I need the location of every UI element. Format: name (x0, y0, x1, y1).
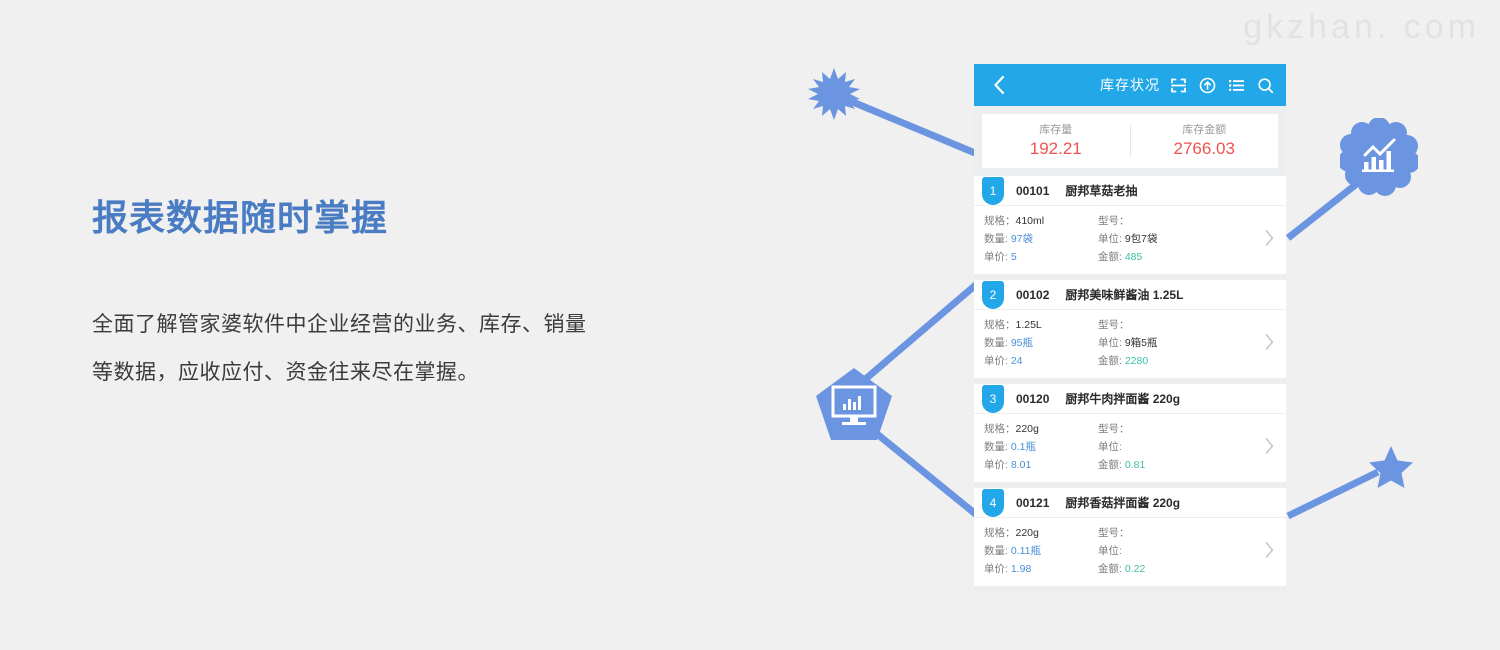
item-col-left: 规格：220g 数量: 0.1瓶 单价: 8.01 (974, 420, 1094, 474)
item-price-row: 单价: 5 (984, 248, 1094, 266)
price-label: 单价: (984, 251, 1008, 263)
unit-value: 9包7袋 (1125, 233, 1158, 245)
search-icon[interactable] (1257, 77, 1274, 94)
phone-mockup: 库存状况 (974, 64, 1286, 592)
item-name: 厨邦草菇老抽 (1065, 182, 1137, 199)
chevron-left-icon (993, 75, 1005, 95)
model-label: 型号： (1098, 527, 1130, 539)
item-spec-row: 规格：220g (984, 524, 1094, 542)
spec-label: 规格： (984, 527, 1016, 539)
item-unit-row: 单位: 9箱5瓶 (1098, 334, 1224, 352)
item-amount-row: 金额: 0.22 (1098, 560, 1224, 578)
unit-label: 单位: (1098, 545, 1122, 557)
qty-value: 0.1瓶 (1011, 441, 1036, 453)
summary-label: 库存量 (982, 122, 1130, 138)
item-col-right: 型号： 单位: 9箱5瓶 金额: 2280 (1094, 316, 1224, 370)
item-model-row: 型号： (1098, 316, 1224, 334)
list-item[interactable]: 1 00101 厨邦草菇老抽 规格：410ml 数量: 97袋 单价: 5 型号… (974, 176, 1286, 274)
item-col-left: 规格：410ml 数量: 97袋 单价: 5 (974, 212, 1094, 266)
amount-value: 485 (1125, 251, 1143, 263)
bar-line-chart-icon (1340, 118, 1418, 196)
spec-value: 220g (1016, 527, 1039, 539)
amount-label: 金额: (1098, 251, 1122, 263)
amount-label: 金额: (1098, 459, 1122, 471)
summary-card: 库存量 192.21 库存金额 2766.03 (982, 114, 1278, 168)
item-index-badge: 1 (982, 177, 1004, 205)
star-icon (1368, 444, 1414, 490)
list-item-body: 规格：220g 数量: 0.1瓶 单价: 8.01 型号： 单位: 金额: 0.… (974, 414, 1286, 482)
spec-value: 1.25L (1016, 319, 1042, 331)
star-badge (1368, 444, 1414, 490)
back-button[interactable] (986, 75, 1012, 95)
item-col-right: 型号： 单位: 金额: 0.81 (1094, 420, 1224, 474)
summary-section: 库存量 192.21 库存金额 2766.03 (974, 106, 1286, 168)
item-amount-row: 金额: 0.81 (1098, 456, 1224, 474)
item-qty-row: 数量: 0.1瓶 (984, 438, 1094, 456)
spec-label: 规格： (984, 319, 1016, 331)
spec-value: 410ml (1016, 215, 1045, 227)
item-qty-row: 数量: 0.11瓶 (984, 542, 1094, 560)
item-code: 00102 (1016, 288, 1049, 302)
item-amount-row: 金额: 485 (1098, 248, 1224, 266)
item-code: 00101 (1016, 184, 1049, 198)
list-item-header: 1 00101 厨邦草菇老抽 (974, 176, 1286, 206)
amount-value: 0.81 (1125, 459, 1145, 471)
scallop-badge (1340, 118, 1418, 196)
list-item-body: 规格：410ml 数量: 97袋 单价: 5 型号： 单位: 9包7袋 金额: … (974, 206, 1286, 274)
amount-label: 金额: (1098, 563, 1122, 575)
item-name: 厨邦牛肉拌面酱 220g (1065, 390, 1180, 407)
list-item-header: 3 00120 厨邦牛肉拌面酱 220g (974, 384, 1286, 414)
list-item-body: 规格：220g 数量: 0.11瓶 单价: 1.98 型号： 单位: 金额: 0… (974, 518, 1286, 586)
item-code: 00121 (1016, 496, 1049, 510)
summary-value: 192.21 (982, 138, 1130, 160)
monitor-chart-icon (814, 366, 894, 442)
chevron-right-icon[interactable] (1265, 334, 1274, 353)
qty-value: 95瓶 (1011, 337, 1033, 349)
item-amount-row: 金额: 2280 (1098, 352, 1224, 370)
item-model-row: 型号： (1098, 212, 1224, 230)
app-header: 库存状况 (974, 64, 1286, 106)
item-name: 厨邦美味鲜酱油 1.25L (1065, 286, 1183, 303)
list-item-header: 4 00121 厨邦香菇拌面酱 220g (974, 488, 1286, 518)
item-col-right: 型号： 单位: 金额: 0.22 (1094, 524, 1224, 578)
item-code: 00120 (1016, 392, 1049, 406)
chevron-right-icon[interactable] (1265, 230, 1274, 249)
summary-label: 库存金额 (1131, 122, 1279, 138)
summary-cell-amount: 库存金额 2766.03 (1131, 122, 1279, 160)
summary-cell-qty: 库存量 192.21 (982, 122, 1130, 160)
page-title: 报表数据随时掌握 (92, 196, 612, 239)
item-price-row: 单价: 1.98 (984, 560, 1094, 578)
item-col-right: 型号： 单位: 9包7袋 金额: 485 (1094, 212, 1224, 266)
chevron-right-icon[interactable] (1265, 438, 1274, 457)
item-spec-row: 规格：1.25L (984, 316, 1094, 334)
item-index-badge: 2 (982, 281, 1004, 309)
item-price-row: 单价: 24 (984, 352, 1094, 370)
qty-value: 97袋 (1011, 233, 1033, 245)
site-watermark: gkzhan. com (1243, 8, 1480, 47)
model-label: 型号： (1098, 423, 1130, 435)
header-actions (1170, 77, 1274, 94)
connector-line-right-bottom (1288, 472, 1378, 516)
qty-label: 数量: (984, 233, 1008, 245)
pentagon-badge (814, 366, 894, 442)
qty-label: 数量: (984, 441, 1008, 453)
price-label: 单价: (984, 563, 1008, 575)
item-unit-row: 单位: 9包7袋 (1098, 230, 1224, 248)
item-unit-row: 单位: (1098, 542, 1224, 560)
unit-label: 单位: (1098, 233, 1122, 245)
list-item-body: 规格：1.25L 数量: 95瓶 单价: 24 型号： 单位: 9箱5瓶 金额:… (974, 310, 1286, 378)
price-value: 8.01 (1011, 459, 1031, 471)
price-value: 1.98 (1011, 563, 1031, 575)
price-label: 单价: (984, 459, 1008, 471)
upload-circle-icon[interactable] (1199, 77, 1216, 94)
page-root: gkzhan. com 报表数据随时掌握 全面了解管家婆软件中企业经营的业务、库… (0, 0, 1500, 650)
inventory-list: 1 00101 厨邦草菇老抽 规格：410ml 数量: 97袋 单价: 5 型号… (974, 176, 1286, 586)
burst-badge (806, 66, 862, 122)
amount-label: 金额: (1098, 355, 1122, 367)
item-model-row: 型号： (1098, 524, 1224, 542)
unit-value: 9箱5瓶 (1125, 337, 1158, 349)
amount-value: 2280 (1125, 355, 1148, 367)
spec-label: 规格： (984, 215, 1016, 227)
item-name: 厨邦香菇拌面酱 220g (1065, 494, 1180, 511)
amount-value: 0.22 (1125, 563, 1145, 575)
price-value: 5 (1011, 251, 1017, 263)
list-item-header: 2 00102 厨邦美味鲜酱油 1.25L (974, 280, 1286, 310)
price-label: 单价: (984, 355, 1008, 367)
item-qty-row: 数量: 97袋 (984, 230, 1094, 248)
spec-label: 规格： (984, 423, 1016, 435)
list-item[interactable]: 2 00102 厨邦美味鲜酱油 1.25L 规格：1.25L 数量: 95瓶 单… (974, 274, 1286, 378)
list-item[interactable]: 3 00120 厨邦牛肉拌面酱 220g 规格：220g 数量: 0.1瓶 单价… (974, 378, 1286, 482)
list-item[interactable]: 4 00121 厨邦香菇拌面酱 220g 规格：220g 数量: 0.11瓶 单… (974, 482, 1286, 586)
page-description: 全面了解管家婆软件中企业经营的业务、库存、销量等数据，应收应付、资金往来尽在掌握… (92, 301, 592, 397)
model-label: 型号： (1098, 319, 1130, 331)
list-icon[interactable] (1228, 77, 1245, 94)
item-index-badge: 3 (982, 385, 1004, 413)
item-qty-row: 数量: 95瓶 (984, 334, 1094, 352)
copy-block: 报表数据随时掌握 全面了解管家婆软件中企业经营的业务、库存、销量等数据，应收应付… (92, 196, 612, 397)
item-model-row: 型号： (1098, 420, 1224, 438)
spec-value: 220g (1016, 423, 1039, 435)
scan-icon[interactable] (1170, 77, 1187, 94)
chevron-right-icon[interactable] (1265, 542, 1274, 561)
qty-label: 数量: (984, 545, 1008, 557)
item-col-left: 规格：1.25L 数量: 95瓶 单价: 24 (974, 316, 1094, 370)
list-empty-area (974, 586, 1286, 592)
summary-value: 2766.03 (1131, 138, 1279, 160)
model-label: 型号： (1098, 215, 1130, 227)
unit-label: 单位: (1098, 441, 1122, 453)
item-price-row: 单价: 8.01 (984, 456, 1094, 474)
qty-label: 数量: (984, 337, 1008, 349)
starburst-icon (806, 66, 862, 122)
item-unit-row: 单位: (1098, 438, 1224, 456)
item-index-badge: 4 (982, 489, 1004, 517)
price-value: 24 (1011, 355, 1023, 367)
item-col-left: 规格：220g 数量: 0.11瓶 单价: 1.98 (974, 524, 1094, 578)
qty-value: 0.11瓶 (1011, 545, 1041, 557)
item-spec-row: 规格：220g (984, 420, 1094, 438)
item-spec-row: 规格：410ml (984, 212, 1094, 230)
unit-label: 单位: (1098, 337, 1122, 349)
